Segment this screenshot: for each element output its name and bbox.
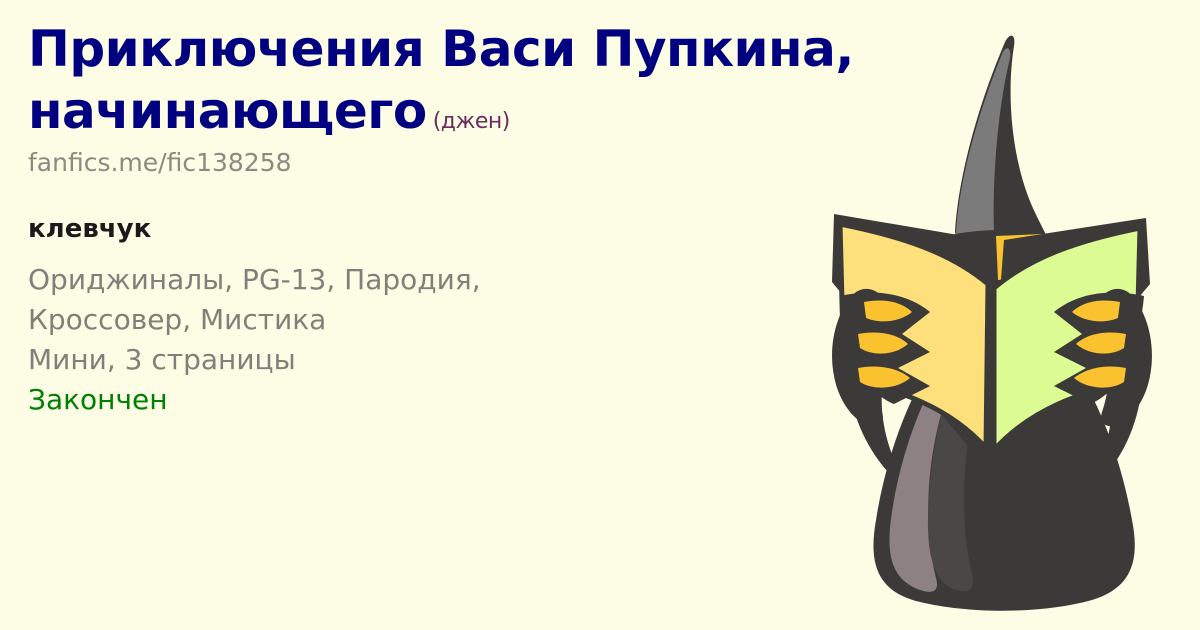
size-line: Мини, 3 страницы xyxy=(28,340,858,380)
genre-tag: (джен) xyxy=(427,109,510,134)
metadata-block: клевчук Ориджиналы, PG-13, Пародия, Крос… xyxy=(28,212,858,420)
witch-reading-book-icon xyxy=(780,0,1200,630)
status-badge: Закончен xyxy=(28,380,858,420)
text-column: Приключения Васи Пупкина, начинающего(дж… xyxy=(28,18,858,420)
tags-line-2: Кроссовер, Мистика xyxy=(28,300,858,340)
page-title: Приключения Васи Пупкина, начинающего(дж… xyxy=(28,18,858,142)
source-url[interactable]: fanfics.me/fic138258 xyxy=(28,148,858,178)
tags-line-1: Ориджиналы, PG-13, Пародия, xyxy=(28,260,858,300)
witch-reading-book-illustration xyxy=(780,0,1200,630)
fanfic-preview-card: Приключения Васи Пупкина, начинающего(дж… xyxy=(0,0,1200,630)
author-name[interactable]: клевчук xyxy=(28,212,858,246)
